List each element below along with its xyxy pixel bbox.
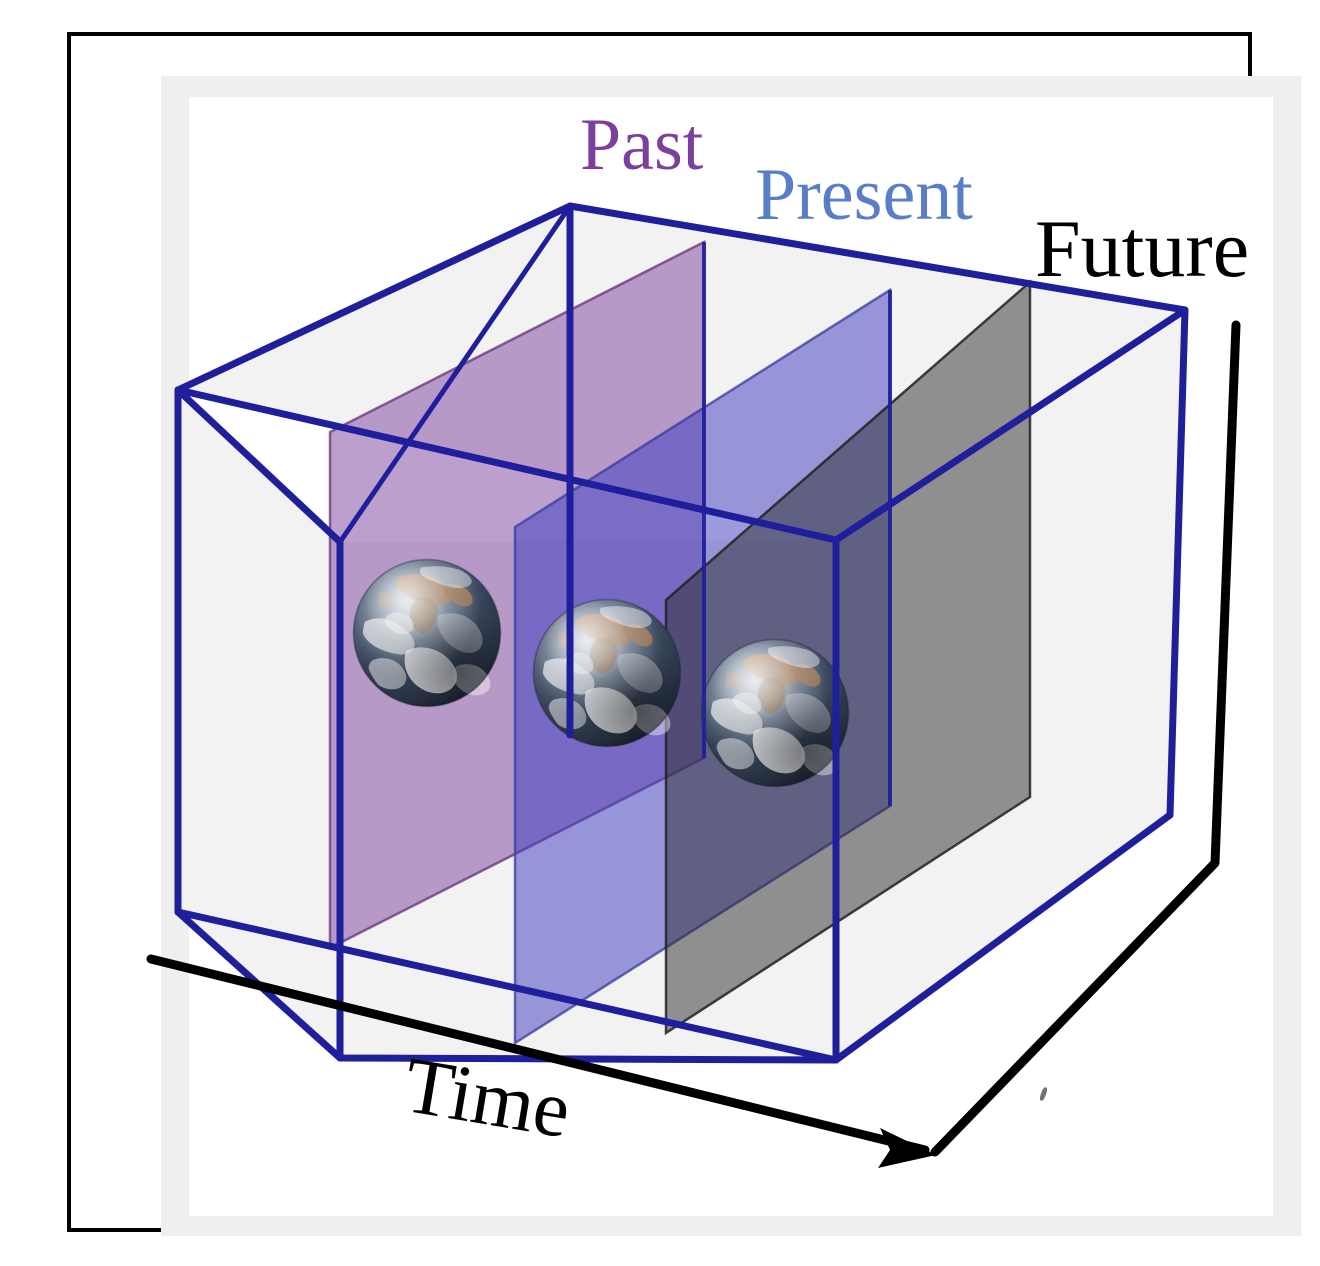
label-present: Present bbox=[755, 158, 973, 232]
label-past: Past bbox=[580, 108, 703, 182]
label-future: Future bbox=[1035, 208, 1249, 290]
figure-page: Past Present Future Time bbox=[0, 0, 1320, 1266]
